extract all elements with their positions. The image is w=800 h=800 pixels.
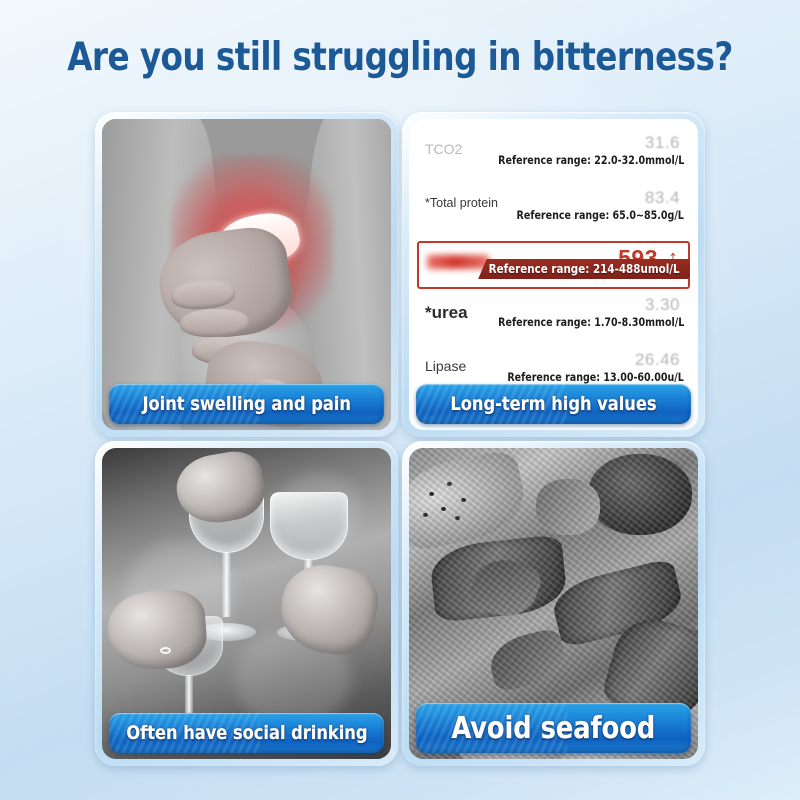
card-grid: Joint swelling and pain TCO2 31.6 Refere… [95,112,705,790]
caption-text: Often have social drinking [126,722,367,744]
card-avoid-seafood[interactable]: Avoid seafood [402,441,705,766]
caption-text: Avoid seafood [452,711,656,746]
drinking-photo: Often have social drinking [102,448,391,759]
caption-bar-avoid-seafood: Avoid seafood [416,703,691,753]
caption-bar-lab-report: Long-term high values [416,384,691,424]
card-social-drinking[interactable]: Often have social drinking [95,441,398,766]
card-joint-pain[interactable]: Joint swelling and pain [95,112,398,437]
card-lab-report[interactable]: TCO2 31.6 Reference range: 22.0-32.0mmol… [402,112,705,437]
hand-icon [105,588,208,672]
page-title-wrap: Are you still struggling in bitterness? [0,38,800,77]
lab-test-name: *urea [425,303,468,323]
seafood-photo: Avoid seafood [409,448,698,759]
lab-test-name: TCO2 [425,141,462,157]
lab-reference-range: Reference range: 1.70-8.30mmol/L [498,315,684,329]
lab-reference-range: Reference range: 65.0~85.0g/L [517,208,684,222]
page-title: Are you still struggling in bitterness? [28,38,772,77]
lab-test-value: 31.6 [645,133,680,153]
lab-test-name: *Total protein [425,196,498,210]
redacted-label-icon [427,255,489,269]
lab-reference-range: Reference range: 13.00-60.00u/L [507,370,684,384]
caption-bar-joint-pain: Joint swelling and pain [109,384,384,424]
lab-reference-range: Reference range: 22.0-32.0mmol/L [498,153,684,167]
lab-row: *Total protein 83.4 Reference range: 65.… [417,184,690,239]
knee-pain-photo: Joint swelling and pain [102,119,391,430]
ring-icon [160,647,171,654]
lab-reference-range: Reference range: 214-488umol/L [489,261,680,276]
caption-bar-social-drinking: Often have social drinking [109,713,384,753]
lab-test-value: 26.46 [635,350,680,370]
lab-row: TCO2 31.6 Reference range: 22.0-32.0mmol… [417,129,690,184]
caption-text: Joint swelling and pain [142,393,350,415]
lab-test-value: 83.4 [645,188,680,208]
lab-row: *urea 3.30 Reference range: 1.70-8.30mmo… [417,291,690,346]
lab-test-value: 3.30 [645,295,680,315]
lab-test-name: Lipase [425,358,466,374]
lab-report-photo: TCO2 31.6 Reference range: 22.0-32.0mmol… [409,119,698,430]
caption-text: Long-term high values [450,393,656,415]
lab-row-highlighted: 593 ↑ Reference range: 214-488umol/L [417,241,690,289]
